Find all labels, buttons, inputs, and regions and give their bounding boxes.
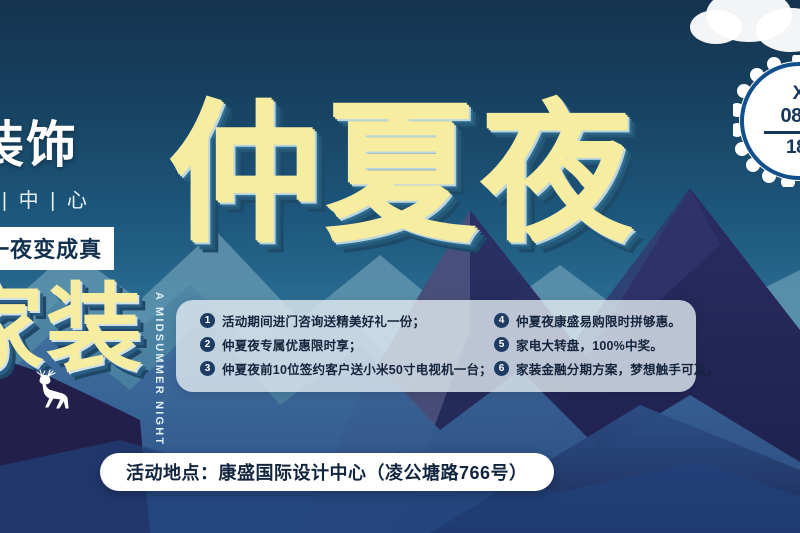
brand-logo-block: 盛装饰 設 | 計 | 中 | 心 装梦 一夜变成真	[0, 120, 187, 270]
benefit-number-badge: 1	[200, 313, 215, 328]
brand-name: 盛装饰	[0, 120, 187, 170]
midsummer-night-label: A MIDSUMMER NIGHT	[153, 292, 165, 446]
benefit-text: 仲夏夜前10位签约客户送小米50寸电视机一台；	[222, 359, 492, 378]
seal-time-text: 18:	[786, 137, 800, 159]
seal-divider	[764, 131, 800, 134]
brand-slogan: 装梦 一夜变成真	[0, 227, 114, 270]
event-date-badge: X 08/2 18:	[733, 55, 800, 187]
benefit-item: 5 家电大转盘，100%中奖。	[494, 335, 719, 354]
benefit-text: 仲夏夜康盛易购限时拼够惠。	[516, 311, 681, 330]
benefit-text: 仲夏夜专属优惠限时享；	[222, 335, 362, 354]
benefits-column-left: 1 活动期间进门咨询送精美好礼一份； 2 仲夏夜专属优惠限时享； 3 仲夏夜前1…	[176, 311, 490, 392]
deer-icon	[28, 368, 76, 420]
main-headline: 仲夏夜	[168, 98, 636, 250]
benefit-text: 家电大转盘，100%中奖。	[516, 335, 663, 354]
benefits-column-right: 4 仲夏夜康盛易购限时拼够惠。 5 家电大转盘，100%中奖。 6 家装金融分期…	[490, 311, 719, 392]
benefit-item: 4 仲夏夜康盛易购限时拼够惠。	[494, 311, 719, 330]
benefit-text: 家装金融分期方案，梦想触手可及。	[516, 359, 719, 378]
event-location-text: 活动地点：康盛国际设计中心（凌公塘路766号）	[126, 459, 528, 485]
benefit-number-badge: 5	[494, 337, 509, 352]
benefit-item: 3 仲夏夜前10位签约客户送小米50寸电视机一台；	[200, 359, 490, 378]
benefit-item: 1 活动期间进门咨询送精美好礼一份；	[200, 311, 490, 330]
seal-top-text: X	[793, 83, 800, 105]
seal-date-text: 08/2	[781, 105, 800, 128]
secondary-headline: 家装	[0, 282, 144, 378]
benefits-panel: 1 活动期间进门咨询送精美好礼一份； 2 仲夏夜专属优惠限时享； 3 仲夏夜前1…	[176, 300, 696, 392]
event-location-pill: 活动地点：康盛国际设计中心（凌公塘路766号）	[100, 453, 554, 491]
benefit-number-badge: 3	[200, 361, 215, 376]
benefit-item: 6 家装金融分期方案，梦想触手可及。	[494, 359, 719, 378]
brand-subtitle: 設 | 計 | 中 | 心	[0, 184, 187, 213]
benefit-text: 活动期间进门咨询送精美好礼一份；	[222, 311, 425, 330]
benefit-number-badge: 2	[200, 337, 215, 352]
benefit-item: 2 仲夏夜专属优惠限时享；	[200, 335, 490, 354]
benefit-number-badge: 6	[494, 361, 509, 376]
benefit-number-badge: 4	[494, 313, 509, 328]
promo-poster: X 08/2 18: 盛装饰 設 | 計 | 中 | 心 装梦 一夜变成真 仲夏…	[0, 0, 800, 533]
